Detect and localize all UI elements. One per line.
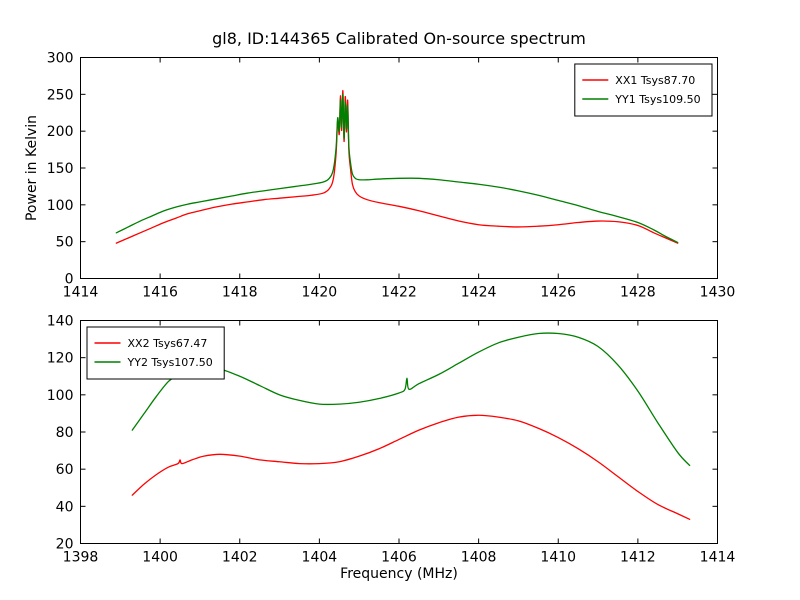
y-tick-label: 250 [47,87,74,103]
legend-label: XX1 Tsys87.70 [615,74,695,87]
x-tick-label: 1410 [540,550,576,566]
x-tick-label: 1428 [620,285,656,301]
x-tick-label: 1422 [381,285,417,301]
legend-frame [87,327,224,379]
y-tick-label: 200 [47,124,74,140]
x-tick-label: 1406 [381,550,417,566]
y-axis-label-text: Power in Kelvin [24,115,40,221]
x-tick-label: 1412 [620,550,656,566]
y-tick-label: 150 [47,161,74,177]
x-tick-label: 1400 [142,550,178,566]
y-tick-label: 100 [47,388,74,404]
legend-frame [575,64,712,116]
x-tick-label: 1418 [222,285,258,301]
legend-label: YY2 Tsys107.50 [127,356,213,369]
y-tick-label: 80 [56,425,74,441]
spectrum-figure: gl8, ID:144365 Calibrated On-source spec… [0,0,800,600]
x-tick-label: 1430 [700,285,736,301]
x-tick-label: 1414 [700,550,736,566]
y-tick-label: 20 [56,537,74,553]
legend-label: YY1 Tsys109.50 [614,93,700,106]
bottom-panel-legend[interactable]: XX2 Tsys67.47YY2 Tsys107.50 [87,327,224,379]
x-tick-label: 1404 [302,550,338,566]
x-tick-label: 1420 [302,285,338,301]
legend-label: XX2 Tsys67.47 [128,337,208,350]
y-tick-label: 60 [56,462,74,478]
x-tick-label: 1402 [222,550,258,566]
x-tick-label: 1424 [461,285,497,301]
x-axis-label: Frequency (MHz) [340,566,458,582]
x-tick-label: 1416 [142,285,178,301]
y-tick-label: 140 [47,314,74,330]
top-panel-y-axis-label: Power in Kelvin [24,115,40,221]
y-tick-label: 120 [47,351,74,367]
figure-title: gl8, ID:144365 Calibrated On-source spec… [212,29,586,48]
y-tick-label: 0 [65,272,74,288]
y-tick-label: 100 [47,198,74,214]
y-tick-label: 40 [56,499,74,515]
x-tick-label: 1426 [540,285,576,301]
y-tick-label: 50 [56,235,74,251]
y-tick-label: 300 [47,51,74,67]
figure-canvas: gl8, ID:144365 Calibrated On-source spec… [0,0,800,600]
top-panel-legend[interactable]: XX1 Tsys87.70YY1 Tsys109.50 [575,64,712,116]
x-tick-label: 1408 [461,550,497,566]
